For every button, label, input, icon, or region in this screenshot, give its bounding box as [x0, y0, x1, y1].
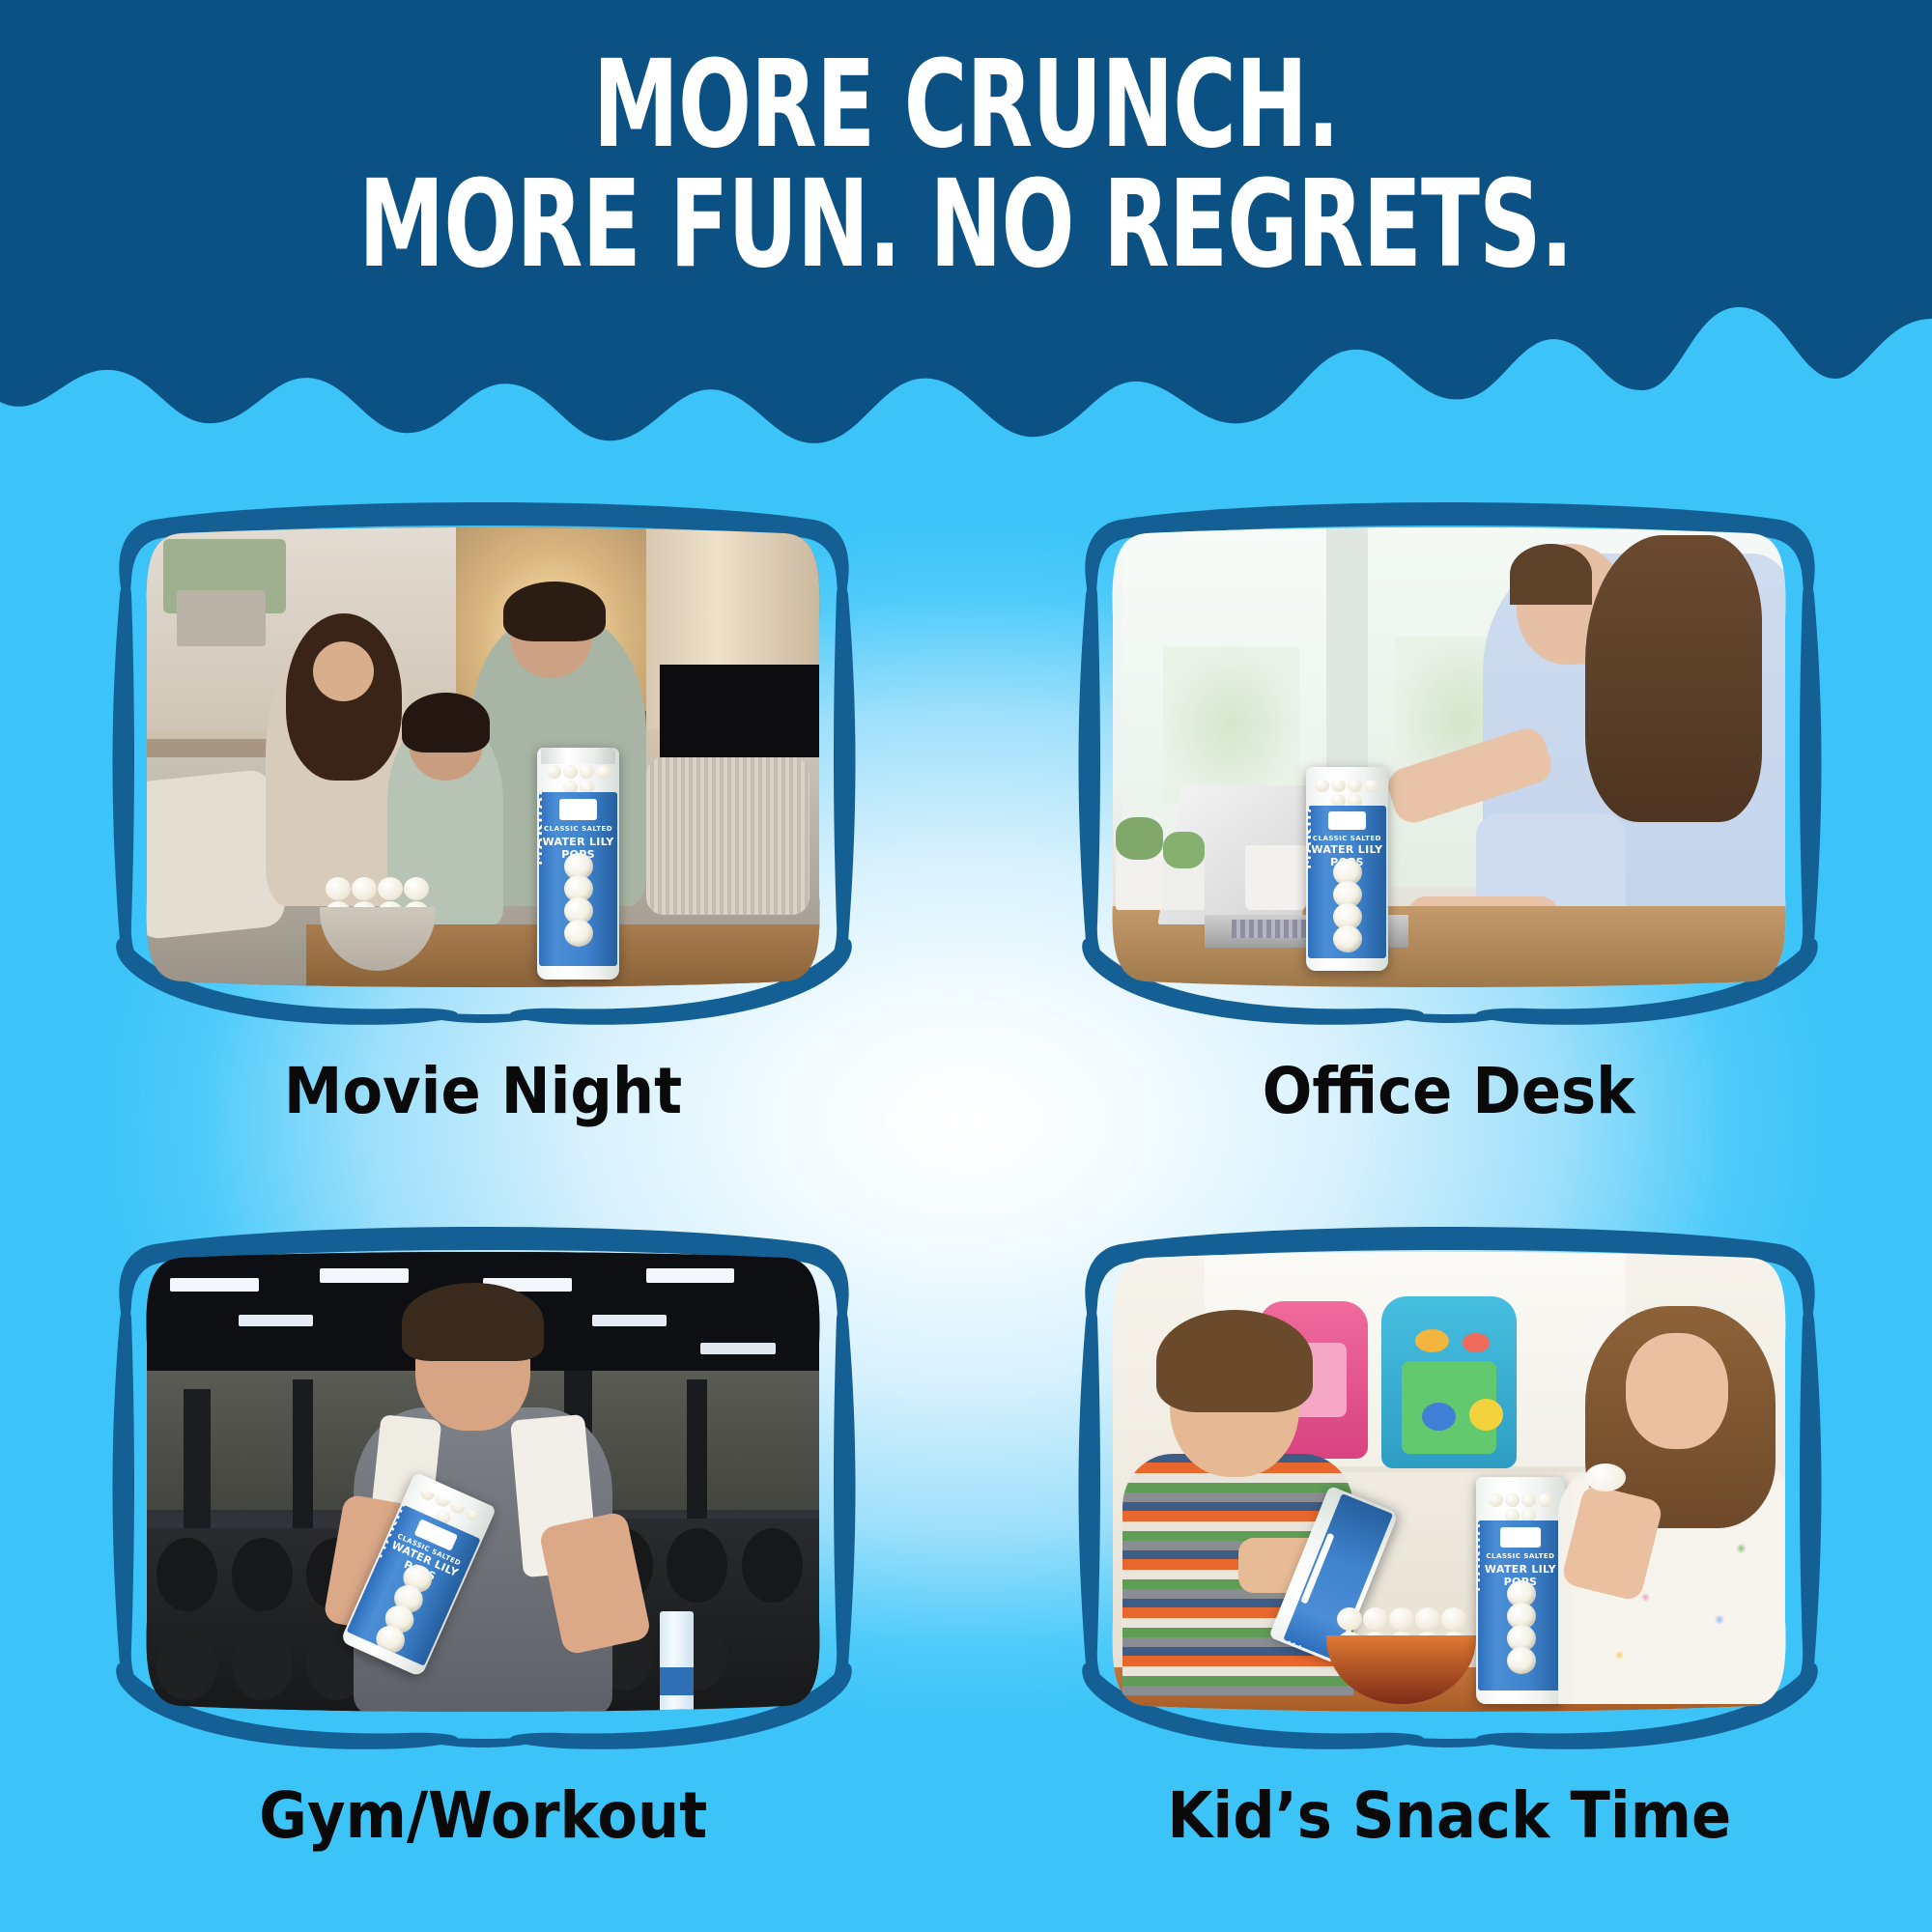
label-vertical-title: MAKHANA: [539, 792, 546, 866]
usecase-card-office-desk[interactable]: CLASSIC SALTED WATER LILY POPS MAKHANA: [1063, 487, 1835, 1033]
product-jar: CLASSIC SALTED WATER LILY POPS MAKHANA: [1476, 1477, 1565, 1704]
usecase-photo-movie-night: CLASSIC SALTED WATER LILY POPS MAKHANA: [143, 526, 823, 989]
jar-open-top: [1310, 767, 1385, 781]
jar-body: CLASSIC SALTED WATER LILY POPS MAKHANA: [537, 748, 618, 980]
water-bottle: [660, 1611, 694, 1714]
usecase-cell-gym-workout: CLASSIC SALTED WATER LILY POPS MAKHANA G…: [0, 1207, 966, 1932]
usecase-card-gym-workout[interactable]: CLASSIC SALTED WATER LILY POPS MAKHANA: [97, 1211, 869, 1757]
label-vertical-title: MAKHANA: [1308, 806, 1315, 870]
card-caption-movie-night: Movie Night: [284, 1054, 682, 1128]
label-pops-art: [1331, 864, 1364, 952]
product-jar: CLASSIC SALTED WATER LILY POPS MAKHANA: [1306, 767, 1387, 971]
brand-logo-box: [1328, 811, 1366, 830]
label-pops-art: [369, 1563, 438, 1659]
label-sub-title: CLASSIC SALTED: [1308, 835, 1386, 842]
jar-label: CLASSIC SALTED WATER LILY POPS MAKHANA: [1308, 806, 1386, 958]
jar-lid: [541, 748, 616, 764]
usecase-cell-office-desk: CLASSIC SALTED WATER LILY POPS MAKHANA O…: [966, 483, 1932, 1207]
usecase-grid: CLASSIC SALTED WATER LILY POPS MAKHANA M…: [0, 483, 1932, 1932]
jar-label: CLASSIC SALTED WATER LILY POPS MAKHANA: [1478, 1520, 1563, 1690]
label-pops-art: [1503, 1585, 1539, 1674]
usecase-card-movie-night[interactable]: CLASSIC SALTED WATER LILY POPS MAKHANA: [97, 487, 869, 1033]
jar-body: CLASSIC SALTED WATER LILY POPS MAKHANA: [1306, 767, 1387, 971]
usecase-photo-gym-workout: CLASSIC SALTED WATER LILY POPS MAKHANA: [143, 1250, 823, 1714]
bowl-cup: [1326, 1635, 1476, 1704]
usecase-cell-movie-night: CLASSIC SALTED WATER LILY POPS MAKHANA M…: [0, 483, 966, 1207]
bowl-cup: [320, 907, 436, 970]
product-jar: CLASSIC SALTED WATER LILY POPS MAKHANA: [537, 748, 618, 980]
usecase-photo-kids-snack-time: MAKHANA: [1109, 1250, 1789, 1714]
jar-body: CLASSIC SALTED WATER LILY POPS MAKHANA: [1476, 1477, 1565, 1704]
brand-logo-box: [559, 799, 597, 820]
card-caption-office-desk: Office Desk: [1263, 1054, 1635, 1128]
usecase-cell-kids-snack-time: MAKHANA: [966, 1207, 1932, 1932]
water-bottle-label: [660, 1667, 694, 1695]
header-wave-shape: [0, 0, 1932, 464]
jar-visible-pops: [542, 764, 613, 794]
jar-visible-pops: [1482, 1493, 1560, 1523]
label-sub-title: CLASSIC SALTED: [1478, 1552, 1563, 1560]
jar-visible-pops: [1311, 781, 1382, 807]
snack-bowl: [1326, 1593, 1476, 1704]
jar-open-top: [1480, 1477, 1561, 1492]
card-caption-gym-workout: Gym/Workout: [259, 1778, 707, 1853]
label-vertical-title: MAKHANA: [1478, 1520, 1484, 1592]
brand-logo-box: [1500, 1527, 1541, 1548]
held-makhana-piece: [1585, 1463, 1626, 1492]
label-pops-art: [562, 858, 595, 947]
header-banner: MORE CRUNCH. MORE FUN. NO REGRETS.: [0, 0, 1932, 464]
card-caption-kids-snack-time: Kid’s Snack Time: [1167, 1778, 1731, 1853]
jar-label: CLASSIC SALTED WATER LILY POPS MAKHANA: [539, 792, 617, 966]
usecase-card-kids-snack-time[interactable]: MAKHANA: [1063, 1211, 1835, 1757]
usecase-photo-office-desk: CLASSIC SALTED WATER LILY POPS MAKHANA: [1109, 526, 1789, 989]
snack-bowl: [320, 868, 436, 971]
label-sub-title: CLASSIC SALTED: [539, 825, 617, 833]
